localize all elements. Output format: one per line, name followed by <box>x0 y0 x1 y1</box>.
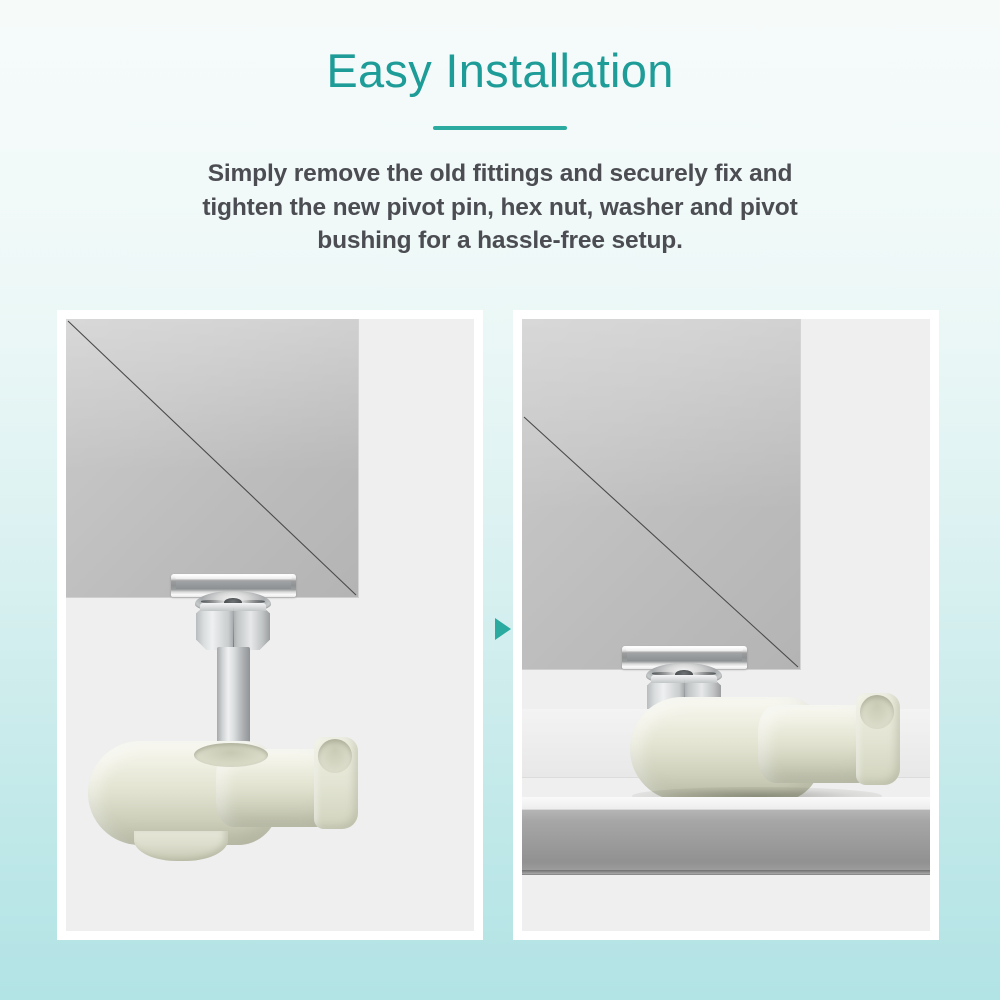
panel-after <box>513 310 939 940</box>
bracket-band <box>627 653 742 661</box>
bushing-pin-recess <box>194 743 268 767</box>
subtitle-line-3: bushing for a hassle-free setup. <box>100 224 900 258</box>
glass-panel <box>66 319 359 598</box>
bushing-bottom-nub <box>134 831 228 861</box>
title-divider <box>433 126 567 130</box>
pivot-pin <box>217 647 250 752</box>
rail-bottom-lip <box>522 870 930 873</box>
panel-after-inner <box>522 319 930 931</box>
bushing-hook-notch <box>860 695 894 729</box>
bracket-band <box>176 581 291 589</box>
subtitle-line-2: tighten the new pivot pin, hex nut, wash… <box>100 191 900 225</box>
page-title: Easy Installation <box>0 42 1000 100</box>
rail-top-gap <box>522 797 930 809</box>
panel-before <box>57 310 483 940</box>
page-subtitle: Simply remove the old fittings and secur… <box>100 157 900 258</box>
hex-nut-center-edge <box>233 606 235 650</box>
bushing-hook-notch <box>318 739 352 773</box>
panel-before-inner <box>66 319 474 931</box>
bracket-highlight <box>175 575 293 579</box>
bottom-rail <box>522 809 930 875</box>
transition-arrow-icon <box>491 616 513 642</box>
bracket-highlight <box>626 647 744 651</box>
glass-panel <box>522 319 801 670</box>
subtitle-line-1: Simply remove the old fittings and secur… <box>100 157 900 191</box>
hex-nut <box>196 603 270 650</box>
